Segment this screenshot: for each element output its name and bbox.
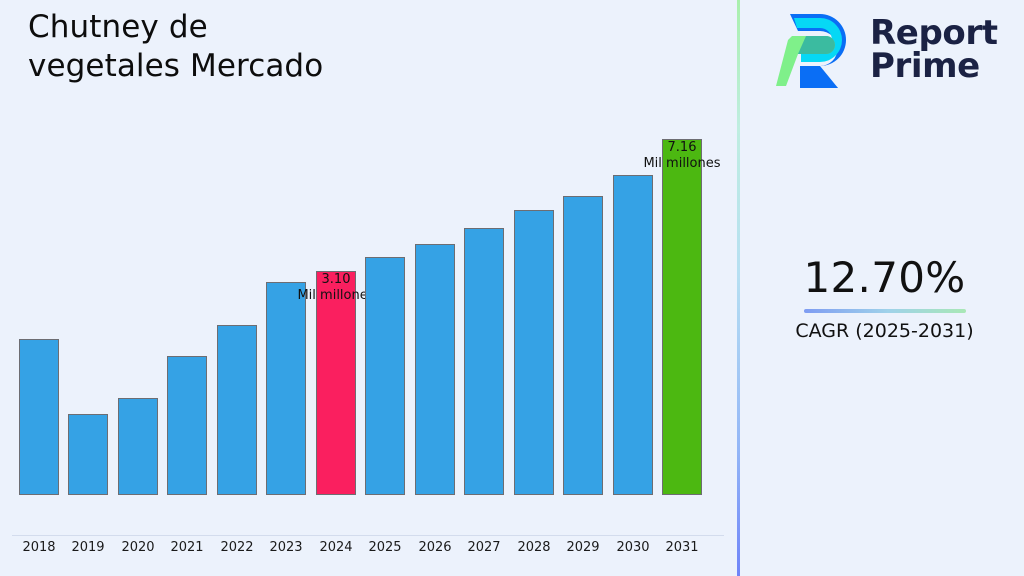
report-prime-logo: Report Prime	[776, 8, 998, 92]
chart-page: Chutney de vegetales Mercado Report Prim…	[0, 0, 1024, 576]
bar-chart: 20182019202020212022202320243.10Mil mill…	[0, 0, 737, 576]
report-prime-wordmark: Report Prime	[870, 17, 998, 84]
cagr-divider	[804, 309, 966, 313]
bar-2031[interactable]	[662, 139, 702, 495]
x-axis-line	[12, 535, 724, 536]
bar-2026[interactable]	[415, 244, 455, 495]
bar-2025[interactable]	[365, 257, 405, 495]
cagr-caption: CAGR (2025-2031)	[745, 319, 1024, 343]
bar-2027[interactable]	[464, 228, 504, 495]
cagr-block: 12.70% CAGR (2025-2031)	[745, 252, 1024, 343]
x-tick-2031: 2031	[652, 540, 712, 555]
plot-area: 20182019202020212022202320243.10Mil mill…	[0, 0, 737, 536]
bar-2019[interactable]	[68, 414, 108, 495]
bar-2020[interactable]	[118, 398, 158, 495]
bar-2029[interactable]	[563, 196, 603, 495]
bar-2022[interactable]	[217, 325, 257, 495]
bar-2018[interactable]	[19, 339, 59, 495]
logo-word-prime: Prime	[870, 50, 998, 83]
logo-word-report: Report	[870, 17, 998, 50]
bar-2024[interactable]	[316, 271, 356, 495]
bar-2028[interactable]	[514, 210, 554, 495]
report-prime-logo-mark-icon	[776, 8, 856, 92]
bar-2021[interactable]	[167, 356, 207, 495]
panel-divider	[737, 0, 740, 576]
bar-2030[interactable]	[613, 175, 653, 495]
cagr-value: 12.70%	[745, 252, 1024, 304]
bar-2023[interactable]	[266, 282, 306, 495]
